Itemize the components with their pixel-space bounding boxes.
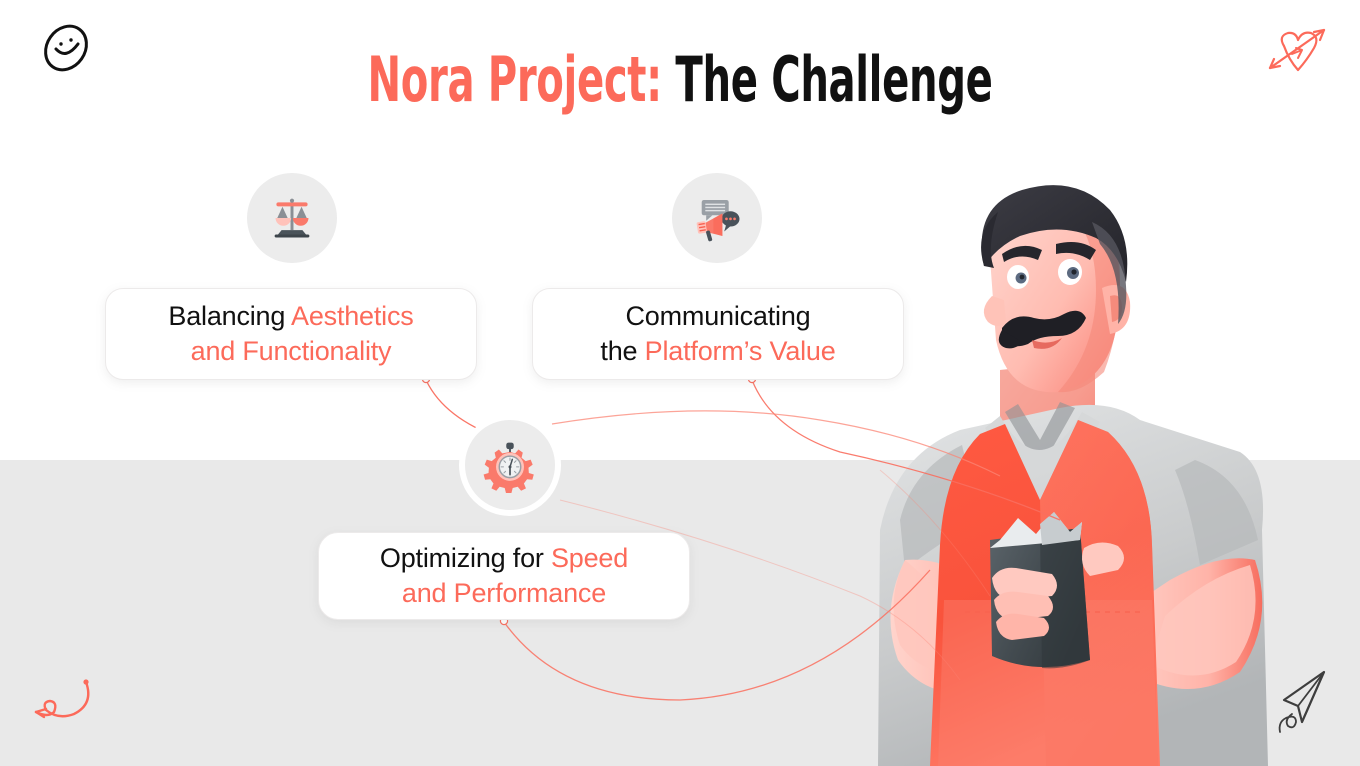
heart-arrow-doodle xyxy=(1262,20,1334,82)
card-line-2: and Performance xyxy=(380,576,628,611)
card-text-accent: Aesthetics xyxy=(291,301,414,331)
card-text-accent: Speed xyxy=(551,543,628,573)
card-line-1: Communicating xyxy=(600,299,835,334)
paper-plane-doodle xyxy=(1262,660,1342,742)
slide-canvas: Nora Project: The Challenge xyxy=(0,0,1360,766)
card-line-2: the Platform’s Value xyxy=(600,334,835,369)
title-dark: The Challenge xyxy=(675,43,992,116)
balance-scale-icon xyxy=(247,173,337,263)
card-optimizing-speed[interactable]: Optimizing for Speed and Performance xyxy=(318,532,690,620)
card-text-dark: Balancing xyxy=(168,301,291,331)
smiley-doodle xyxy=(40,22,92,74)
card-balancing-aesthetics[interactable]: Balancing Aesthetics and Functionality xyxy=(105,288,477,380)
megaphone-icon xyxy=(672,173,762,263)
curved-arrow-doodle xyxy=(24,672,110,738)
card-text-accent: Platform’s Value xyxy=(645,336,836,366)
card-text-dark: Optimizing for xyxy=(380,543,551,573)
stopwatch-gear-icon xyxy=(459,414,561,516)
card-line-2: and Functionality xyxy=(168,334,413,369)
card-text-dark: the xyxy=(600,336,644,366)
card-line-1: Optimizing for Speed xyxy=(380,541,628,576)
card-communicating-value[interactable]: Communicating the Platform’s Value xyxy=(532,288,904,380)
title-accent: Nora Project: xyxy=(368,43,662,116)
card-line-1: Balancing Aesthetics xyxy=(168,299,413,334)
page-title: Nora Project: The Challenge xyxy=(190,44,1169,116)
